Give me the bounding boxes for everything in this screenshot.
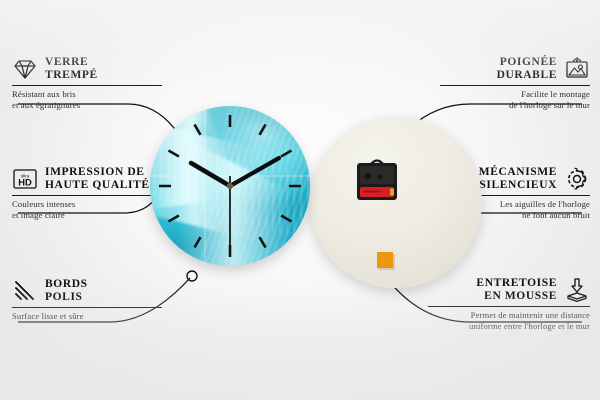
feature-title: POIGNÉE DURABLE — [497, 56, 557, 82]
feature-description: Permet de maintenir une distance uniform… — [428, 310, 590, 331]
picture-hanger-icon — [564, 56, 590, 82]
feature-divider — [12, 307, 162, 308]
feature-description: Surface lisse et sûre — [12, 311, 162, 322]
hour-hand — [191, 163, 230, 186]
battery-label — [363, 191, 381, 193]
feature-title: MÉCANISME SILENCIEUX — [479, 166, 557, 192]
feature-header: BORDS POLIS — [12, 278, 162, 304]
feature-poignee-durable: POIGNÉE DURABLE Facilite le montage de l… — [440, 56, 590, 110]
foam-spacer — [377, 252, 393, 268]
mechanism-dial — [365, 173, 372, 180]
feature-title: IMPRESSION DE HAUTE QUALITÉ — [45, 166, 150, 192]
feature-impression-haute-qualite: ultra HD IMPRESSION DE HAUTE QUALITÉ Cou… — [12, 166, 162, 220]
feature-verre-trempe: VERRE TREMPÉ Résistant aux bris et aux é… — [12, 56, 162, 110]
feature-header: ultra HD IMPRESSION DE HAUTE QUALITÉ — [12, 166, 162, 192]
feature-divider — [12, 85, 162, 86]
svg-text:HD: HD — [18, 177, 32, 188]
minute-hand — [230, 158, 279, 186]
infographic-stage: VERRE TREMPÉ Résistant aux bris et aux é… — [0, 0, 600, 400]
feature-divider — [440, 85, 590, 86]
diamond-icon — [12, 56, 38, 82]
feature-bords-polis: BORDS POLIS Surface lisse et sûre — [12, 278, 162, 322]
feature-header: ENTRETOISE EN MOUSSE — [428, 277, 590, 303]
battery-terminal — [390, 189, 394, 196]
feature-title: ENTRETOISE EN MOUSSE — [476, 277, 557, 303]
clock-dial — [150, 106, 310, 266]
ultra-hd-icon: ultra HD — [12, 166, 38, 192]
clock-mechanism — [354, 156, 400, 204]
feature-title: VERRE TREMPÉ — [45, 56, 98, 82]
feature-title: BORDS POLIS — [45, 278, 88, 304]
feature-description: Résistant aux bris et aux égratignures — [12, 89, 162, 110]
feature-header: VERRE TREMPÉ — [12, 56, 162, 82]
clock-back-face — [310, 116, 482, 288]
gear-icon — [564, 166, 590, 192]
foam-spacer-icon — [564, 277, 590, 303]
feature-header: POIGNÉE DURABLE — [440, 56, 590, 82]
feature-divider — [12, 195, 162, 196]
mechanism-dial — [377, 174, 382, 179]
feature-description: Facilite le montage de l'horloge sur le … — [440, 89, 590, 110]
clock-center-cap — [227, 183, 233, 189]
feature-description: Couleurs intenses et image claire — [12, 199, 162, 220]
feature-entretoise-en-mousse: ENTRETOISE EN MOUSSE Permet de maintenir… — [428, 277, 590, 331]
clock-front-face — [150, 106, 310, 266]
feature-divider — [428, 306, 590, 307]
polished-edge-icon — [12, 278, 38, 304]
